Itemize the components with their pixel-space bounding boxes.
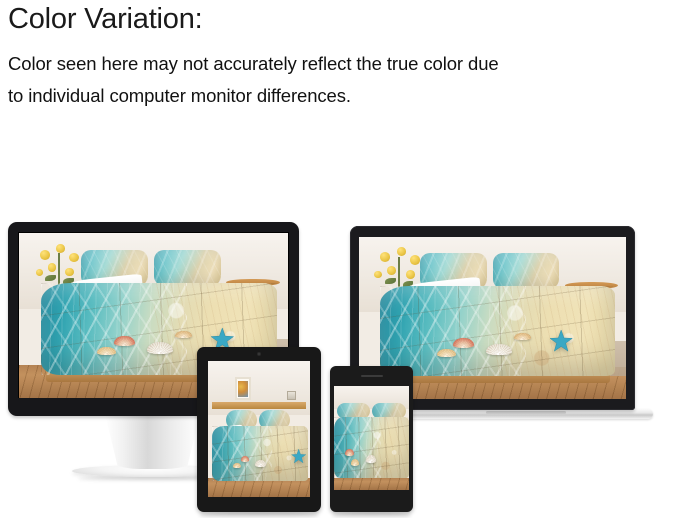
flower-bloom [56, 244, 65, 253]
scene-comforter [380, 286, 615, 377]
bedding-artwork-tablet [208, 361, 310, 497]
plant-leaf [385, 278, 396, 284]
earpiece-speaker-icon [361, 375, 383, 377]
shelf-box [287, 391, 296, 401]
monitor-stand-neck [105, 414, 200, 469]
scene-floor [208, 478, 310, 497]
scene-pillow [493, 253, 560, 289]
flower-bloom [406, 270, 415, 279]
phone-screen [334, 386, 409, 490]
red-scallop-shell [345, 449, 354, 456]
tablet-reflection [199, 512, 319, 518]
tan-shell [175, 331, 192, 338]
wall-picture-frame [235, 377, 251, 400]
tan-shell [351, 459, 359, 466]
white-fan-shell [255, 460, 266, 467]
starfish-icon [291, 448, 306, 464]
tan-shell [97, 347, 116, 355]
white-fan-shell [147, 342, 173, 354]
smartphone [330, 366, 413, 512]
flower-bloom [410, 255, 420, 264]
tablet-screen [208, 361, 310, 497]
white-fan-shell [486, 344, 512, 356]
tablet [197, 347, 321, 512]
scene-headboard-shelf [212, 402, 306, 409]
red-scallop-shell [453, 338, 474, 348]
flower-bloom [387, 266, 396, 275]
red-scallop-shell [241, 456, 250, 462]
plant-leaf [45, 275, 56, 282]
flower-bloom [380, 252, 390, 261]
phone-reflection [332, 512, 411, 518]
page-title: Color Variation: [8, 2, 203, 36]
disclaimer-line-1: Color seen here may not accurately refle… [8, 48, 668, 80]
tan-shell [437, 349, 456, 357]
tan-shell [514, 333, 530, 340]
tan-shell [233, 463, 241, 468]
laptop-trackpad-notch [486, 411, 567, 414]
red-scallop-shell [114, 336, 135, 346]
bedding-artwork-phone [334, 386, 409, 490]
scene-floor [334, 478, 409, 490]
color-disclaimer-text: Color seen here may not accurately refle… [8, 48, 668, 112]
starfish-icon [540, 329, 582, 353]
flower-bloom [48, 263, 57, 272]
white-fan-shell [366, 455, 377, 463]
flower-bloom [69, 253, 79, 262]
scene-comforter [212, 426, 308, 480]
scene-pillow [154, 250, 221, 286]
quilt-stitching [334, 417, 409, 477]
color-variation-page: Color Variation: Color seen here may not… [0, 0, 679, 518]
flower-bloom [374, 271, 382, 278]
scene-comforter [334, 417, 409, 477]
disclaimer-line-2: to individual computer monitor differenc… [8, 80, 668, 112]
flower-bloom [397, 247, 406, 256]
flower-bloom [36, 269, 44, 276]
camera-icon [257, 352, 261, 356]
flower-bloom [40, 250, 50, 259]
flower-bloom [65, 268, 74, 277]
